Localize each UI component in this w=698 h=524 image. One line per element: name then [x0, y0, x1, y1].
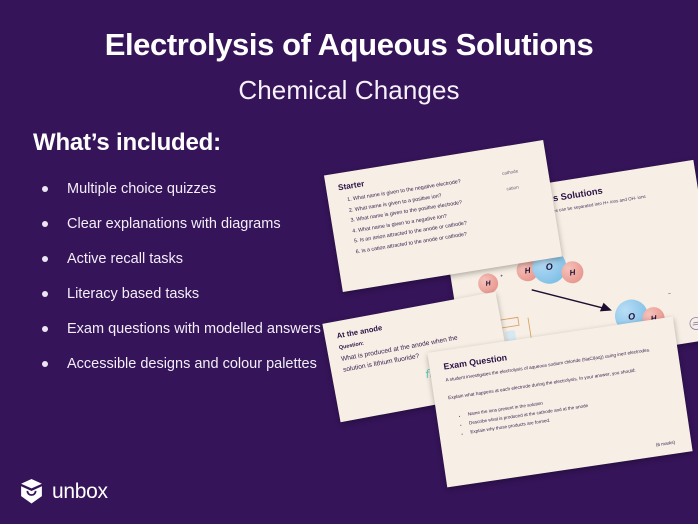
page-subtitle: Chemical Changes: [0, 75, 698, 106]
bullet-icon: [42, 221, 48, 227]
watermark-icon: [688, 316, 698, 332]
box-icon: [19, 478, 44, 505]
charge-minus: −: [668, 291, 672, 297]
list-item: Clear explanations with diagrams: [36, 213, 336, 235]
list-item: Accessible designs and colour palettes: [36, 353, 336, 375]
list-item: Literacy based tasks: [36, 283, 336, 305]
list-item: Exam questions with modelled answers: [36, 318, 336, 340]
card-anode-title: At the anode: [336, 323, 383, 340]
card-starter-title: Starter: [337, 179, 365, 192]
brand-name: unbox: [52, 480, 108, 504]
bullet-icon: [42, 326, 48, 332]
included-heading: What’s included:: [33, 129, 221, 157]
list-item-label: Exam questions with modelled answers: [67, 321, 321, 337]
starter-answer-2: cation: [506, 185, 519, 192]
included-list: Multiple choice quizzes Clear explanatio…: [36, 178, 336, 388]
bullet-icon: [42, 256, 48, 262]
starter-answer-1: cathode: [502, 168, 519, 176]
slide-canvas: Electrolysis of Aqueous Solutions Chemic…: [0, 0, 698, 524]
list-item-label: Literacy based tasks: [67, 286, 199, 302]
card-exam-marks: (6 marks): [656, 440, 676, 448]
bullet-icon: [42, 186, 48, 192]
charge-plus: +: [500, 273, 504, 279]
list-item-label: Clear explanations with diagrams: [67, 216, 281, 232]
list-item-label: Accessible designs and colour palettes: [67, 356, 317, 372]
list-item: Multiple choice quizzes: [36, 178, 336, 200]
list-item: Active recall tasks: [36, 248, 336, 270]
atom-hydrogen-ion: H: [477, 272, 500, 295]
bullet-icon: [42, 361, 48, 367]
brand-logo: unbox: [19, 478, 108, 505]
card-starter-questions: What name is given to the negative elect…: [340, 177, 471, 259]
bullet-icon: [42, 291, 48, 297]
list-item-label: Active recall tasks: [67, 251, 183, 267]
list-item-label: Multiple choice quizzes: [67, 181, 216, 197]
page-title: Electrolysis of Aqueous Solutions: [0, 27, 698, 63]
